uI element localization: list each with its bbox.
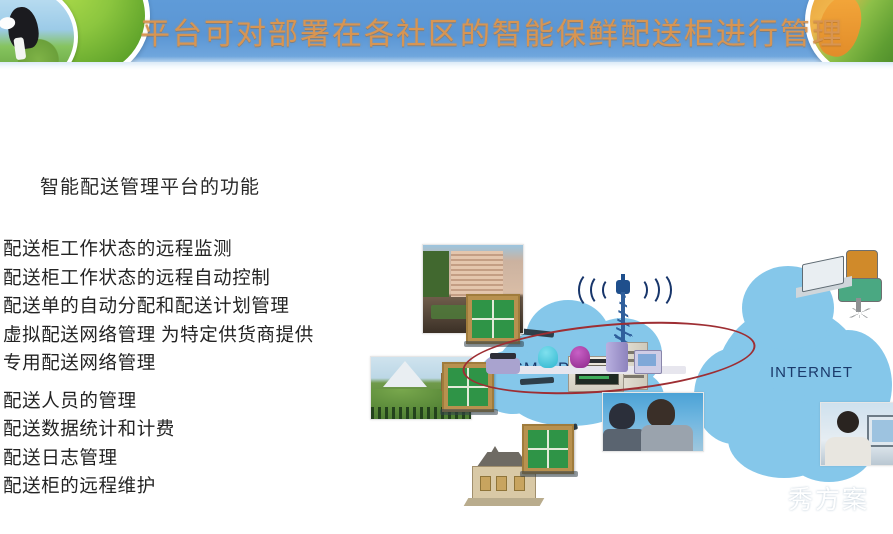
field-workers-photo	[602, 392, 704, 452]
office-worker-photo	[820, 402, 893, 466]
section-subtitle: 智能配送管理平台的功能	[40, 172, 260, 199]
watermark: 秀方案	[748, 478, 888, 518]
delivery-locker-icon	[522, 424, 574, 474]
list-item: 配送柜工作状态的远程自动控制	[3, 265, 403, 294]
smiley-face-icon	[748, 482, 780, 514]
list-item: 专用配送网络管理	[3, 350, 403, 379]
header-banner: 平台可对部署在各社区的智能保鲜配送柜进行管理	[0, 0, 893, 64]
feature-list: 配送柜工作状态的远程监测 配送柜工作状态的远程自动控制 配送单的自动分配和配送计…	[3, 236, 403, 502]
slide-root: 平台可对部署在各社区的智能保鲜配送柜进行管理 智能配送管理平台的功能 配送柜工作…	[0, 0, 893, 534]
list-item: 配送数据统计和计费	[3, 416, 403, 445]
internet-label: INTERNET	[770, 364, 853, 381]
network-architecture-diagram: GSM/GPRS	[370, 238, 893, 500]
cow-photo-icon	[5, 5, 41, 51]
list-item: 配送柜的远程维护	[3, 473, 403, 502]
workstation-desk-icon	[802, 248, 893, 326]
banner-fade-divider	[0, 62, 893, 70]
delivery-locker-icon	[466, 294, 520, 344]
page-title: 平台可对部署在各社区的智能保鲜配送柜进行管理	[140, 8, 860, 54]
list-item: 配送日志管理	[3, 445, 403, 474]
list-item: 配送柜工作状态的远程监测	[3, 236, 403, 265]
cow-photo-circle-decoration	[0, 0, 78, 64]
watermark-text: 秀方案	[788, 480, 869, 516]
list-item: 配送人员的管理	[3, 388, 403, 417]
list-item: 配送单的自动分配和配送计划管理	[3, 293, 403, 322]
list-item: 虚拟配送网络管理 为特定供货商提供	[3, 322, 403, 351]
